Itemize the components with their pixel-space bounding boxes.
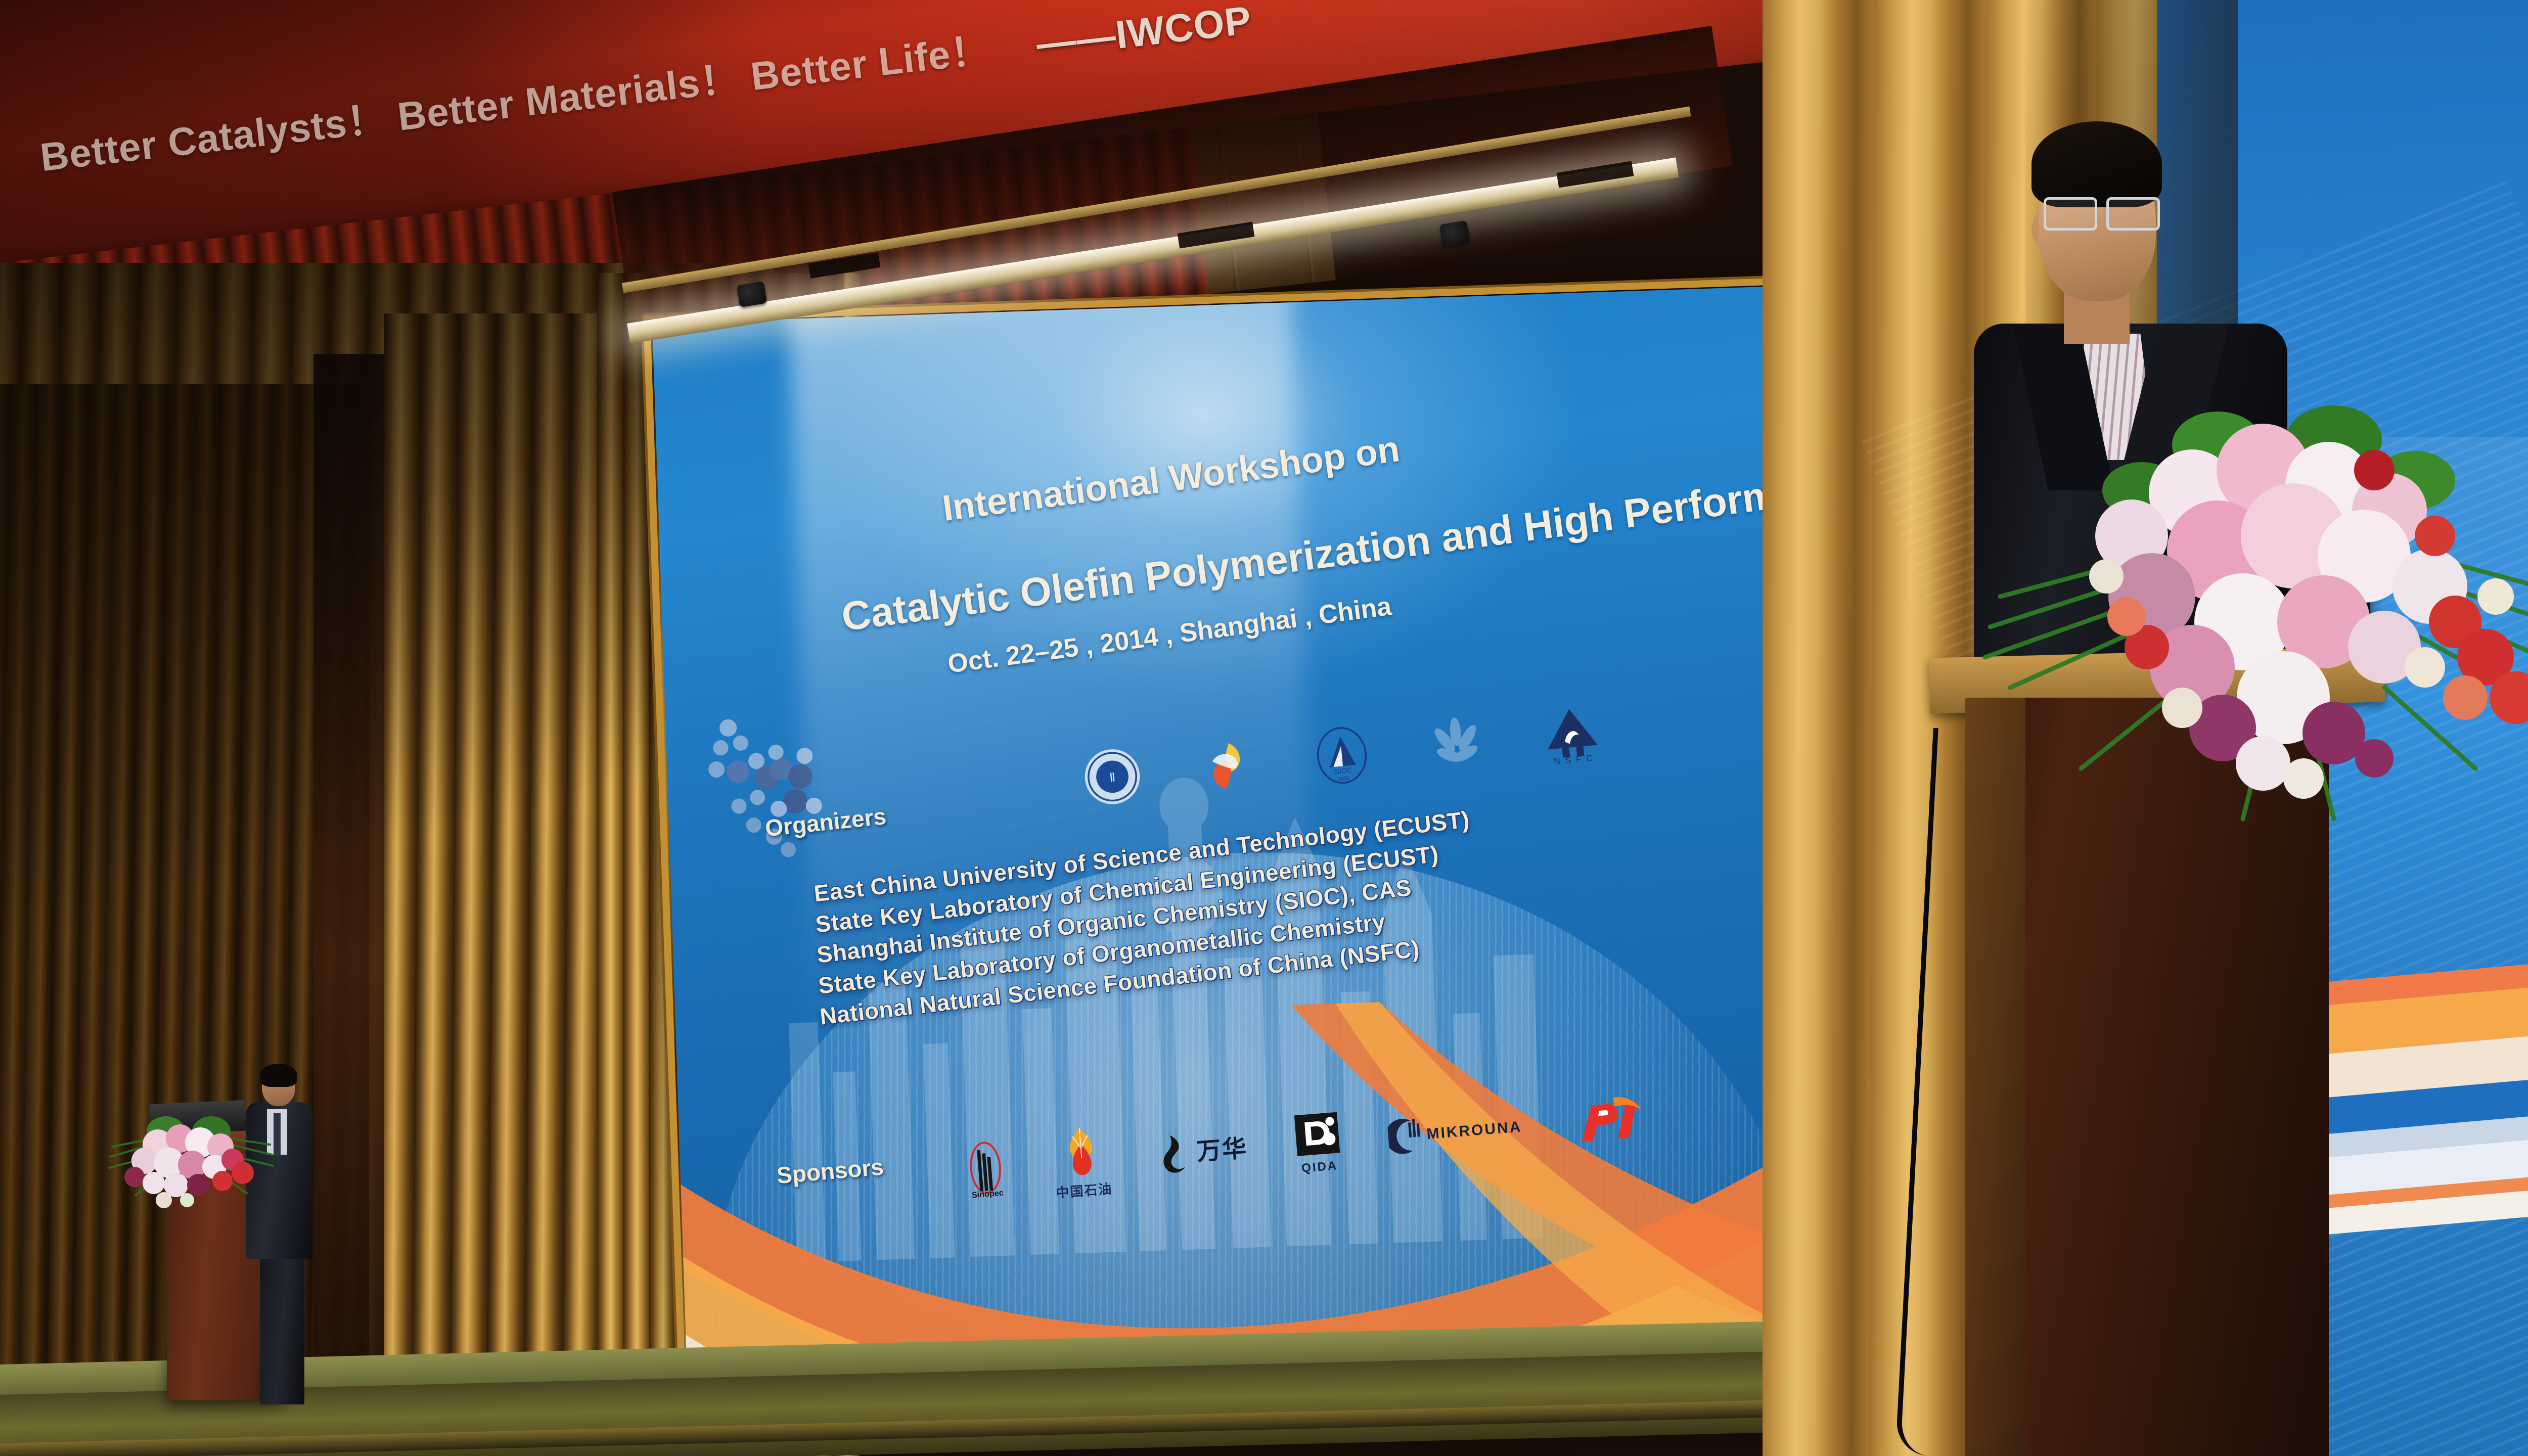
petrochina-logo: 中国石油 [1051, 1122, 1113, 1202]
mikrouna-logo: MIKROUNA [1385, 1089, 1525, 1175]
svg-text:1950: 1950 [1338, 776, 1350, 783]
sklomc-logo [1424, 712, 1489, 777]
wide-stage-panel: Better Catalysts！ Better Materials！ Bett… [0, 0, 1763, 1456]
svg-text:SIOC: SIOC [1334, 766, 1352, 776]
qida-logo: QIDA [1291, 1103, 1345, 1182]
stage-spotlight [737, 281, 767, 307]
left-podium-flowers [105, 1096, 277, 1212]
stage-spotlight [1439, 220, 1470, 247]
sklce-logo [1195, 734, 1259, 798]
left-speaker-hair [260, 1064, 297, 1087]
main-conference-banner: International Workshop on Catalytic Olef… [652, 286, 1763, 1420]
speaker-hair [2032, 121, 2162, 207]
ecust-logo: Ⅱ [1080, 744, 1145, 809]
qida-label: QIDA [1301, 1159, 1338, 1176]
speaker-eyeglasses-icon [2044, 197, 2160, 231]
mikrouna-label: MIKROUNA [1426, 1118, 1522, 1143]
sioc-logo: SIOC 1950 [1310, 723, 1374, 788]
pt1-logo [1565, 1079, 1647, 1161]
podium-flower-arrangement [1980, 384, 2528, 839]
conference-stage-photo: Better Catalysts！ Better Materials！ Bett… [0, 0, 2528, 1456]
speaker-closeup-panel: lenovo [1763, 0, 2528, 1456]
wanhua-label: 万华 [1196, 1136, 1248, 1165]
molecule-model-icon [691, 698, 856, 877]
sinopec-logo: Sinopec [961, 1130, 1011, 1209]
nsfc-logo: N S F C [1539, 702, 1604, 766]
svg-text:Ⅱ: Ⅱ [1109, 770, 1116, 784]
left-speaker-legs [260, 1253, 304, 1404]
sinopec-label: Sinopec [971, 1188, 1004, 1200]
wanhua-logo: 万华 [1154, 1111, 1250, 1194]
